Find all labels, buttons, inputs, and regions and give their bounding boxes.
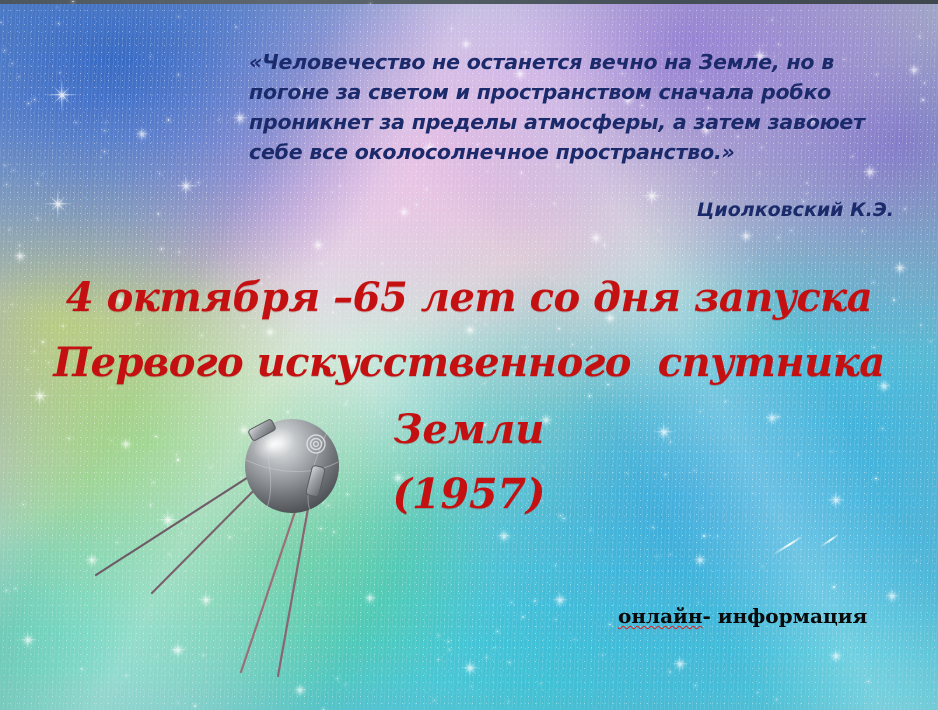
- star-point: [555, 619, 556, 620]
- star-point: [168, 119, 169, 120]
- star-point: [806, 182, 808, 184]
- star-point: [511, 602, 512, 603]
- tsiolkovsky-quote: «Человечество не останется вечно на Земл…: [249, 47, 894, 167]
- presentation-slide: «Человечество не останется вечно на Земл…: [0, 0, 938, 710]
- star-point: [778, 237, 779, 238]
- star-point: [265, 257, 266, 258]
- star-point: [759, 173, 760, 174]
- star-point: [28, 103, 29, 104]
- star-point: [757, 692, 758, 693]
- star-point: [9, 229, 10, 230]
- headline-line-2: Первого искусственного спутника: [0, 329, 938, 397]
- star-point: [669, 671, 670, 672]
- star-point: [703, 535, 704, 536]
- star-point: [497, 631, 498, 632]
- star-point: [105, 122, 106, 123]
- star-point: [34, 99, 35, 100]
- star-point: [670, 554, 671, 555]
- star-point: [57, 7, 58, 8]
- star-point: [159, 173, 160, 174]
- star-point: [509, 662, 510, 663]
- headline-line-1: 4 октября –65 лет со дня запуска: [0, 266, 938, 329]
- top-edge-strip: [0, 0, 938, 4]
- star-point: [508, 701, 509, 702]
- star-point: [42, 173, 44, 175]
- star-point: [778, 44, 779, 45]
- footnote-misspelled-word: онлайн: [618, 604, 703, 628]
- star-point: [104, 151, 105, 152]
- star-point: [590, 530, 591, 531]
- star-point: [522, 616, 524, 618]
- star-point: [4, 165, 5, 166]
- star-point: [868, 681, 869, 682]
- star-point: [806, 193, 807, 194]
- star-point: [104, 130, 105, 131]
- star-point: [438, 659, 439, 660]
- star-point: [534, 600, 536, 602]
- star-point: [158, 213, 159, 214]
- star-point: [6, 590, 7, 591]
- star-point: [235, 26, 237, 28]
- star-point: [771, 19, 773, 21]
- star-point: [161, 248, 163, 250]
- star-point: [602, 654, 604, 656]
- star-point: [521, 172, 523, 174]
- star-point: [6, 184, 7, 185]
- star-point: [791, 230, 792, 231]
- star-point: [709, 535, 710, 536]
- sputnik-satellite-illustration: [60, 400, 420, 700]
- star-point: [194, 705, 196, 707]
- star-point: [18, 76, 20, 78]
- star-point: [4, 50, 5, 51]
- quote-author: Циолковский К.Э.: [249, 199, 907, 221]
- star-point: [776, 699, 777, 700]
- footnote-rest: - информация: [703, 604, 868, 628]
- star-point: [59, 72, 61, 74]
- star-point: [332, 191, 333, 192]
- star-point: [471, 686, 472, 687]
- star-point: [382, 263, 383, 264]
- star-point: [916, 560, 917, 561]
- star-point: [13, 170, 14, 171]
- online-information-note: онлайн- информация: [618, 604, 867, 628]
